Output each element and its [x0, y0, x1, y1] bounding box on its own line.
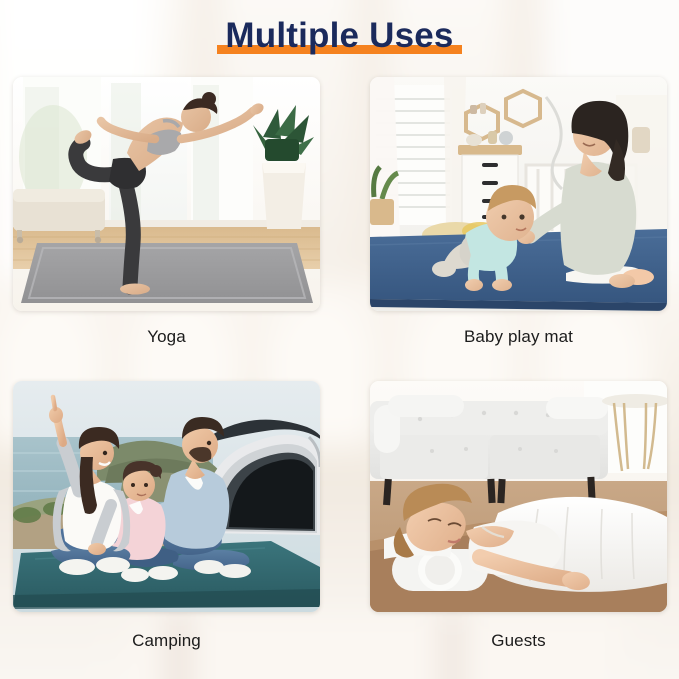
caption-guests: Guests: [370, 631, 667, 651]
caption-yoga: Yoga: [13, 327, 320, 347]
yoga-mat: [21, 243, 313, 303]
guests-scene-image: [370, 381, 667, 612]
panel-guests[interactable]: [370, 381, 667, 612]
caption-baby-play-mat: Baby play mat: [370, 327, 667, 347]
panel-yoga[interactable]: [13, 77, 320, 311]
multiple-uses-infographic: Multiple Uses: [0, 0, 679, 679]
panel-camping[interactable]: [13, 381, 320, 612]
page-title: Multiple Uses: [0, 14, 679, 58]
camping-scene-image: [13, 381, 320, 612]
baby-play-mat-scene-image: [370, 77, 667, 311]
panel-baby-play-mat[interactable]: [370, 77, 667, 311]
title-text: Multiple Uses: [225, 16, 453, 55]
yoga-scene-image: [13, 77, 320, 311]
caption-camping: Camping: [13, 631, 320, 651]
